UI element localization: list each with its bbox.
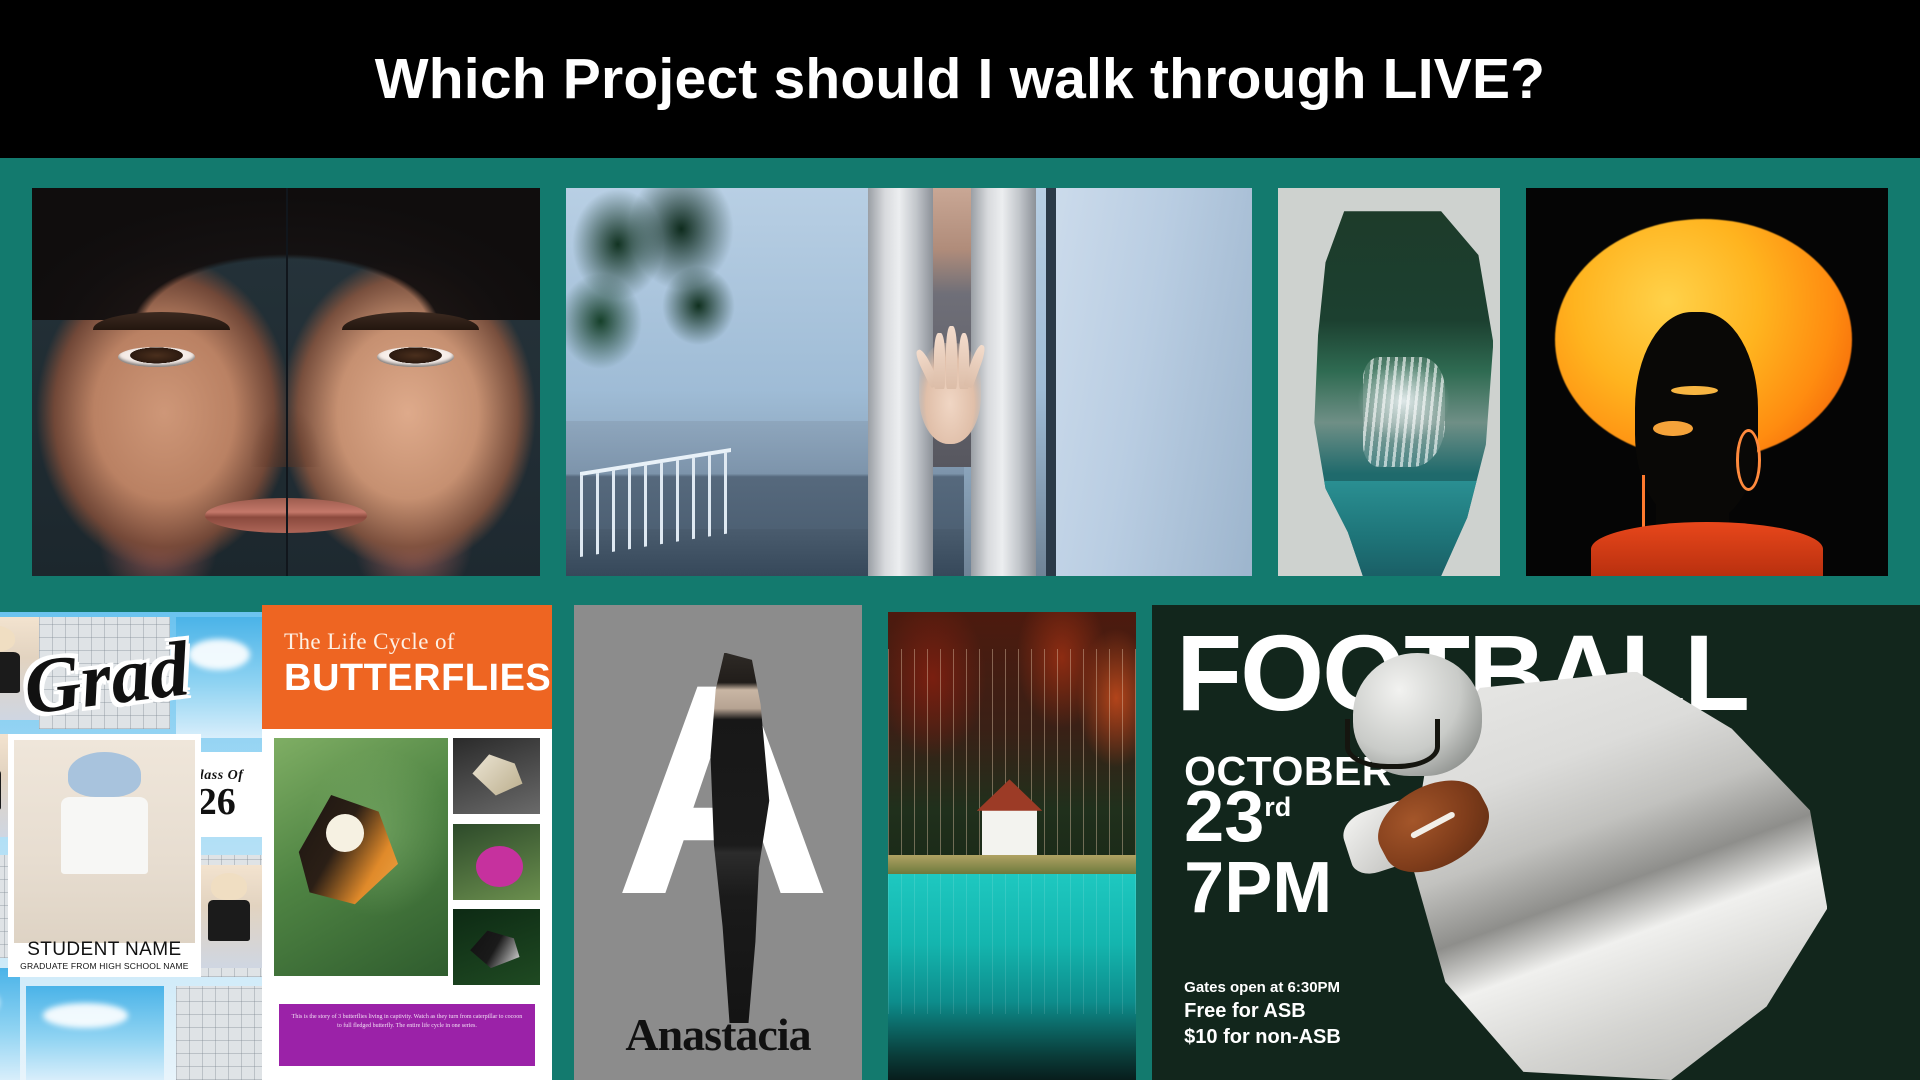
collage-grid-tile-4 <box>176 986 276 1080</box>
football-day: 23rd <box>1184 781 1291 853</box>
butterflies-kicker: The Life Cycle of <box>284 629 534 655</box>
collage-sky-tile-1 <box>176 617 276 739</box>
student-subtitle: GRADUATE FROM HIGH SCHOOL NAME <box>8 961 201 971</box>
project-row-top <box>0 158 1920 598</box>
page-title: Which Project should I walk through LIVE… <box>375 46 1545 112</box>
waterfall-streaks <box>1363 357 1445 466</box>
football-day-number: 23 <box>1184 777 1264 857</box>
eye-right <box>377 347 453 367</box>
butterflies-caption-text: This is the story of 3 butterflies livin… <box>291 1013 522 1030</box>
class-year-number: 26 <box>198 784 236 820</box>
slide-header-banner: Which Project should I walk through LIVE… <box>0 0 1920 158</box>
grad-main-photo-card: STUDENT NAME GRADUATE FROM HIGH SCHOOL N… <box>8 734 201 977</box>
project-thumbnail-anastacia-poster[interactable]: A Anastacia <box>574 605 862 1080</box>
collage-sky-tile-3 <box>26 986 163 1080</box>
eye-line <box>1671 386 1718 395</box>
project-thumbnail-afro-vector-art[interactable] <box>1526 188 1888 576</box>
project-row-bottom: Grad Class Of 26 STUDENT NAME GRADUATE F… <box>0 612 1920 1080</box>
water-reflections <box>888 874 1136 1014</box>
project-thumbnail-forest-lake[interactable] <box>888 612 1136 1080</box>
butterflies-caption-band: This is the story of 3 butterflies livin… <box>279 1004 534 1066</box>
butterfly-photo-small-1 <box>453 738 540 814</box>
grad-name-block: STUDENT NAME GRADUATE FROM HIGH SCHOOL N… <box>8 939 201 971</box>
tree-foliage <box>566 188 854 444</box>
grad-main-photo <box>14 740 195 943</box>
football-day-suffix: rd <box>1264 792 1291 822</box>
eye-left <box>118 347 194 367</box>
football-note-free: Free for ASB <box>1184 1000 1341 1023</box>
butterflies-headline: BUTTERFLIES <box>284 657 534 700</box>
outstretched-hand <box>919 343 981 444</box>
presentation-slide: Which Project should I walk through LIVE… <box>0 0 1920 1080</box>
right-building-wall <box>1046 188 1252 576</box>
project-thumbnail-butterflies-poster[interactable]: The Life Cycle of BUTTERFLIES This is th… <box>262 605 552 1080</box>
water-pool <box>1314 481 1493 576</box>
project-thumbnail-hand-on-pillar[interactable] <box>566 188 1252 576</box>
football-notes: Gates open at 6:30PM Free for ASB $10 fo… <box>1184 979 1341 1052</box>
project-thumbnail-grad-collage[interactable]: Grad Class Of 26 STUDENT NAME GRADUATE F… <box>0 612 276 1080</box>
project-thumbnail-double-exposure-waterfall[interactable] <box>1278 188 1500 576</box>
student-name: STUDENT NAME <box>8 939 201 961</box>
grad-script-word: Grad <box>0 631 189 725</box>
football-note-gates: Gates open at 6:30PM <box>1184 979 1341 996</box>
silhouette-profile <box>1307 211 1493 576</box>
shoulder-shape <box>1591 522 1823 576</box>
anastacia-title: Anastacia <box>574 1008 862 1061</box>
project-thumbnail-football-poster[interactable]: FOOTBALL OCTOBER 23rd 7PM Gates open at … <box>1152 605 1920 1080</box>
butterflies-header-band: The Life Cycle of BUTTERFLIES <box>262 605 552 729</box>
split-divider-line <box>286 188 288 576</box>
football-helmet <box>1353 653 1482 777</box>
lip-line <box>1653 421 1693 437</box>
butterfly-photo-large <box>274 738 448 976</box>
shoreline <box>888 855 1136 874</box>
butterfly-photo-small-3 <box>453 909 540 985</box>
football-note-price: $10 for non-ASB <box>1184 1026 1341 1049</box>
collage-sky-tile-2 <box>0 968 20 1080</box>
football-time: 7PM <box>1184 852 1332 924</box>
project-thumbnail-split-face-retouch[interactable] <box>32 188 540 576</box>
butterfly-photo-small-2 <box>453 824 540 900</box>
grad-script-text: Grad <box>19 623 193 732</box>
